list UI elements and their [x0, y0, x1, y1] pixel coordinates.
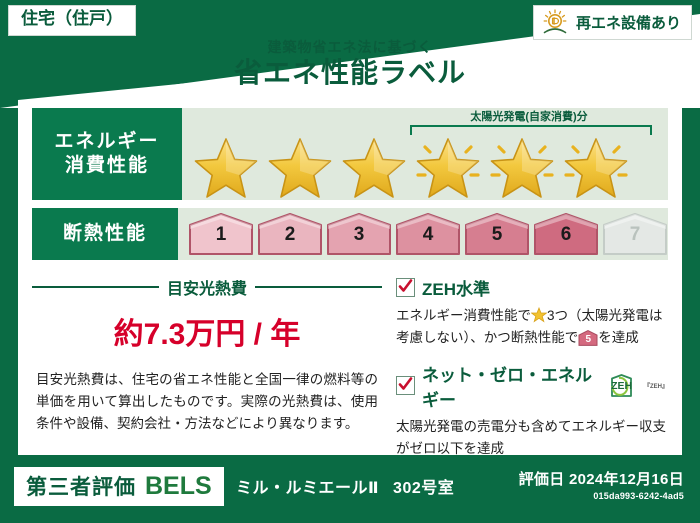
- svg-text:ZEH: ZEH: [611, 380, 632, 392]
- zeh-standard-title: ZEH水準: [422, 275, 490, 300]
- evaluation-info: 評価日 2024年12月16日 015da993-6242-4ad5: [519, 468, 684, 501]
- renewable-badge-label: 再エネ設備あり: [576, 12, 681, 33]
- utility-cost-heading: 目安光熱費: [32, 275, 382, 299]
- energy-star-list: [182, 130, 668, 200]
- insulation-level-badge: 2: [257, 212, 323, 256]
- energy-stars-band: 太陽光発電(自家消費)分: [182, 108, 668, 200]
- building-info: ミル・ルミエールⅡ 302号室: [236, 474, 454, 498]
- utility-cost-description: 目安光熱費は、住宅の省エネ性能と全国一律の燃料等の単価を用いて算出したものです。…: [32, 369, 382, 435]
- insulation-level-number: 6: [533, 224, 599, 246]
- evaluation-date: 評価日 2024年12月16日: [519, 468, 684, 489]
- insulation-level-list: 1 2 3 4 5 6 7: [178, 208, 668, 260]
- bels-en-label: BELS: [145, 472, 212, 501]
- insulation-level-number: 5: [464, 224, 530, 246]
- house-level-icon-inline: 5: [578, 330, 598, 346]
- insulation-level-number: 7: [602, 224, 668, 246]
- insulation-performance-label: 断熱性能: [32, 208, 178, 260]
- heading-rule-left: [32, 286, 159, 288]
- room-number: 302号室: [393, 474, 454, 498]
- zeh-body-post: を達成: [598, 330, 639, 345]
- zeh-criteria-block: ZEH水準 エネルギー消費性能で3つ（太陽光発電は考慮しない）、かつ断熱性能で5…: [396, 275, 668, 471]
- label-card: エネルギー 消費性能 太陽光発電(自家消費)分: [18, 100, 682, 455]
- net-zero-energy-item: ネット・ゼロ・エネルギー ZEH 『ZEH』 太陽光発電の売電分も含めてエネルギ…: [396, 361, 668, 460]
- solar-generation-note: 太陽光発電(自家消費)分: [404, 108, 654, 124]
- insulation-level-badge: 3: [326, 212, 392, 256]
- zeh-standard-body: エネルギー消費性能で3つ（太陽光発電は考慮しない）、かつ断熱性能で5を達成: [396, 305, 668, 349]
- building-name: ミル・ルミエールⅡ: [236, 474, 379, 498]
- renewable-equipment-badge: 再エネ設備あり: [533, 5, 692, 40]
- checkbox-checked-icon[interactable]: [396, 376, 415, 395]
- checkbox-checked-icon[interactable]: [396, 278, 415, 297]
- energy-performance-row: エネルギー 消費性能 太陽光発電(自家消費)分: [32, 108, 668, 200]
- zeh-standard-title-row: ZEH水準: [396, 275, 668, 300]
- energy-star: [486, 131, 558, 199]
- solar-sun-icon: [540, 9, 570, 35]
- net-zero-title-row: ネット・ゼロ・エネルギー ZEH 『ZEH』: [396, 361, 668, 411]
- net-zero-body: 太陽光発電の売電分も含めてエネルギー収支がゼロ以下を達成: [396, 416, 668, 460]
- utility-cost-value: 約7.3万円 / 年: [32, 309, 382, 353]
- evaluation-id: 015da993-6242-4ad5: [519, 491, 684, 501]
- house-level-number-inline: 5: [578, 332, 598, 348]
- bels-badge: 第三者評価 BELS: [14, 467, 224, 506]
- zeh-logo-subtext: 『ZEH』: [644, 381, 668, 390]
- utility-cost-heading-label: 目安光熱費: [167, 275, 247, 299]
- insulation-level-badge: 1: [188, 212, 254, 256]
- energy-star: [560, 131, 632, 199]
- zeh-logo-icon: ZEH: [599, 374, 639, 398]
- energy-label-page: 住宅（住戸） 再エネ設備あり 建築物省エネ法に基づく: [0, 0, 700, 523]
- insulation-performance-row: 断熱性能 1 2 3 4 5 6 7: [32, 208, 668, 260]
- insulation-level-badge: 6: [533, 212, 599, 256]
- insulation-level-number: 3: [326, 224, 392, 246]
- energy-star: [190, 131, 262, 199]
- utility-cost-block: 目安光熱費 約7.3万円 / 年 目安光熱費は、住宅の省エネ性能と全国一律の燃料…: [32, 275, 382, 435]
- insulation-level-number: 1: [188, 224, 254, 246]
- insulation-level-badge: 7: [602, 212, 668, 256]
- energy-performance-label: エネルギー 消費性能: [32, 108, 182, 200]
- energy-star: [338, 131, 410, 199]
- energy-star: [264, 131, 336, 199]
- insulation-level-number: 2: [257, 224, 323, 246]
- net-zero-title: ネット・ゼロ・エネルギー: [422, 361, 592, 411]
- insulation-level-number: 4: [395, 224, 461, 246]
- star-icon-inline: [531, 307, 547, 323]
- heading-rule-right: [255, 286, 382, 288]
- bels-ja-label: 第三者評価: [26, 471, 136, 501]
- insulation-level-badge: 5: [464, 212, 530, 256]
- zeh-body-pre: エネルギー消費性能で: [396, 308, 531, 323]
- insulation-level-badge: 4: [395, 212, 461, 256]
- dwelling-type-tag: 住宅（住戸）: [8, 5, 136, 36]
- zeh-standard-item: ZEH水準 エネルギー消費性能で3つ（太陽光発電は考慮しない）、かつ断熱性能で5…: [396, 275, 668, 349]
- footer-bar: 第三者評価 BELS ミル・ルミエールⅡ 302号室 評価日 2024年12月1…: [0, 462, 700, 523]
- energy-star: [412, 131, 484, 199]
